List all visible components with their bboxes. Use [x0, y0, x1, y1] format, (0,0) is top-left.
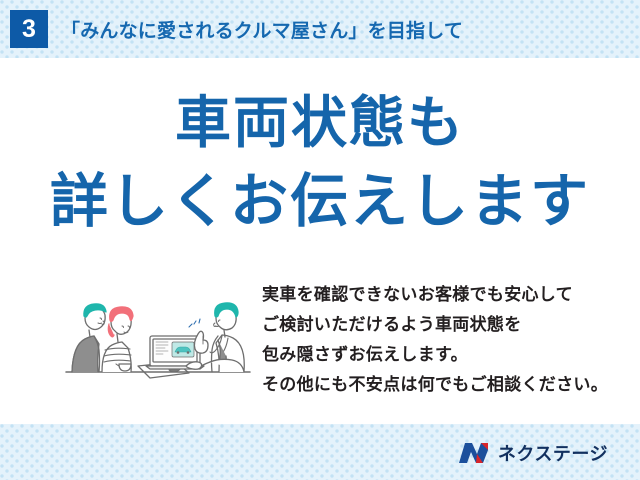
body-copy-line-3: 包み隠さずお伝えします。: [262, 340, 630, 370]
nextage-n-logo-icon: [457, 441, 491, 465]
promo-banner: 3 「みんなに愛されるクルマ屋さん」を目指して 車両状態も 詳しくお伝えします: [0, 0, 640, 480]
body-copy-line-1: 実車を確認できないお客様でも安心して: [262, 280, 630, 310]
headline: 車両状態も 詳しくお伝えします: [0, 95, 640, 231]
headline-line-2: 詳しくお伝えします: [0, 173, 640, 231]
header-title: 「みんなに愛されるクルマ屋さん」を目指して: [61, 16, 463, 43]
brand-logo: ネクステージ: [457, 440, 608, 466]
body-copy: 実車を確認できないお客様でも安心して ご検討いただけるよう車両状態を 包み隠さず…: [262, 280, 630, 400]
body-copy-line-4: その他にも不安点は何でもご相談ください。: [262, 370, 630, 400]
body-section: 実車を確認できないお客様でも安心して ご検討いただけるよう車両状態を 包み隠さず…: [0, 272, 640, 412]
brand-name: ネクステージ: [498, 440, 608, 466]
customer-consultation-illustration: [58, 278, 258, 403]
step-number-badge: 3: [10, 10, 48, 48]
header: 3 「みんなに愛されるクルマ屋さん」を目指して: [0, 0, 640, 58]
body-copy-line-2: ご検討いただけるよう車両状態を: [262, 310, 630, 340]
headline-line-1: 車両状態も: [0, 95, 640, 151]
